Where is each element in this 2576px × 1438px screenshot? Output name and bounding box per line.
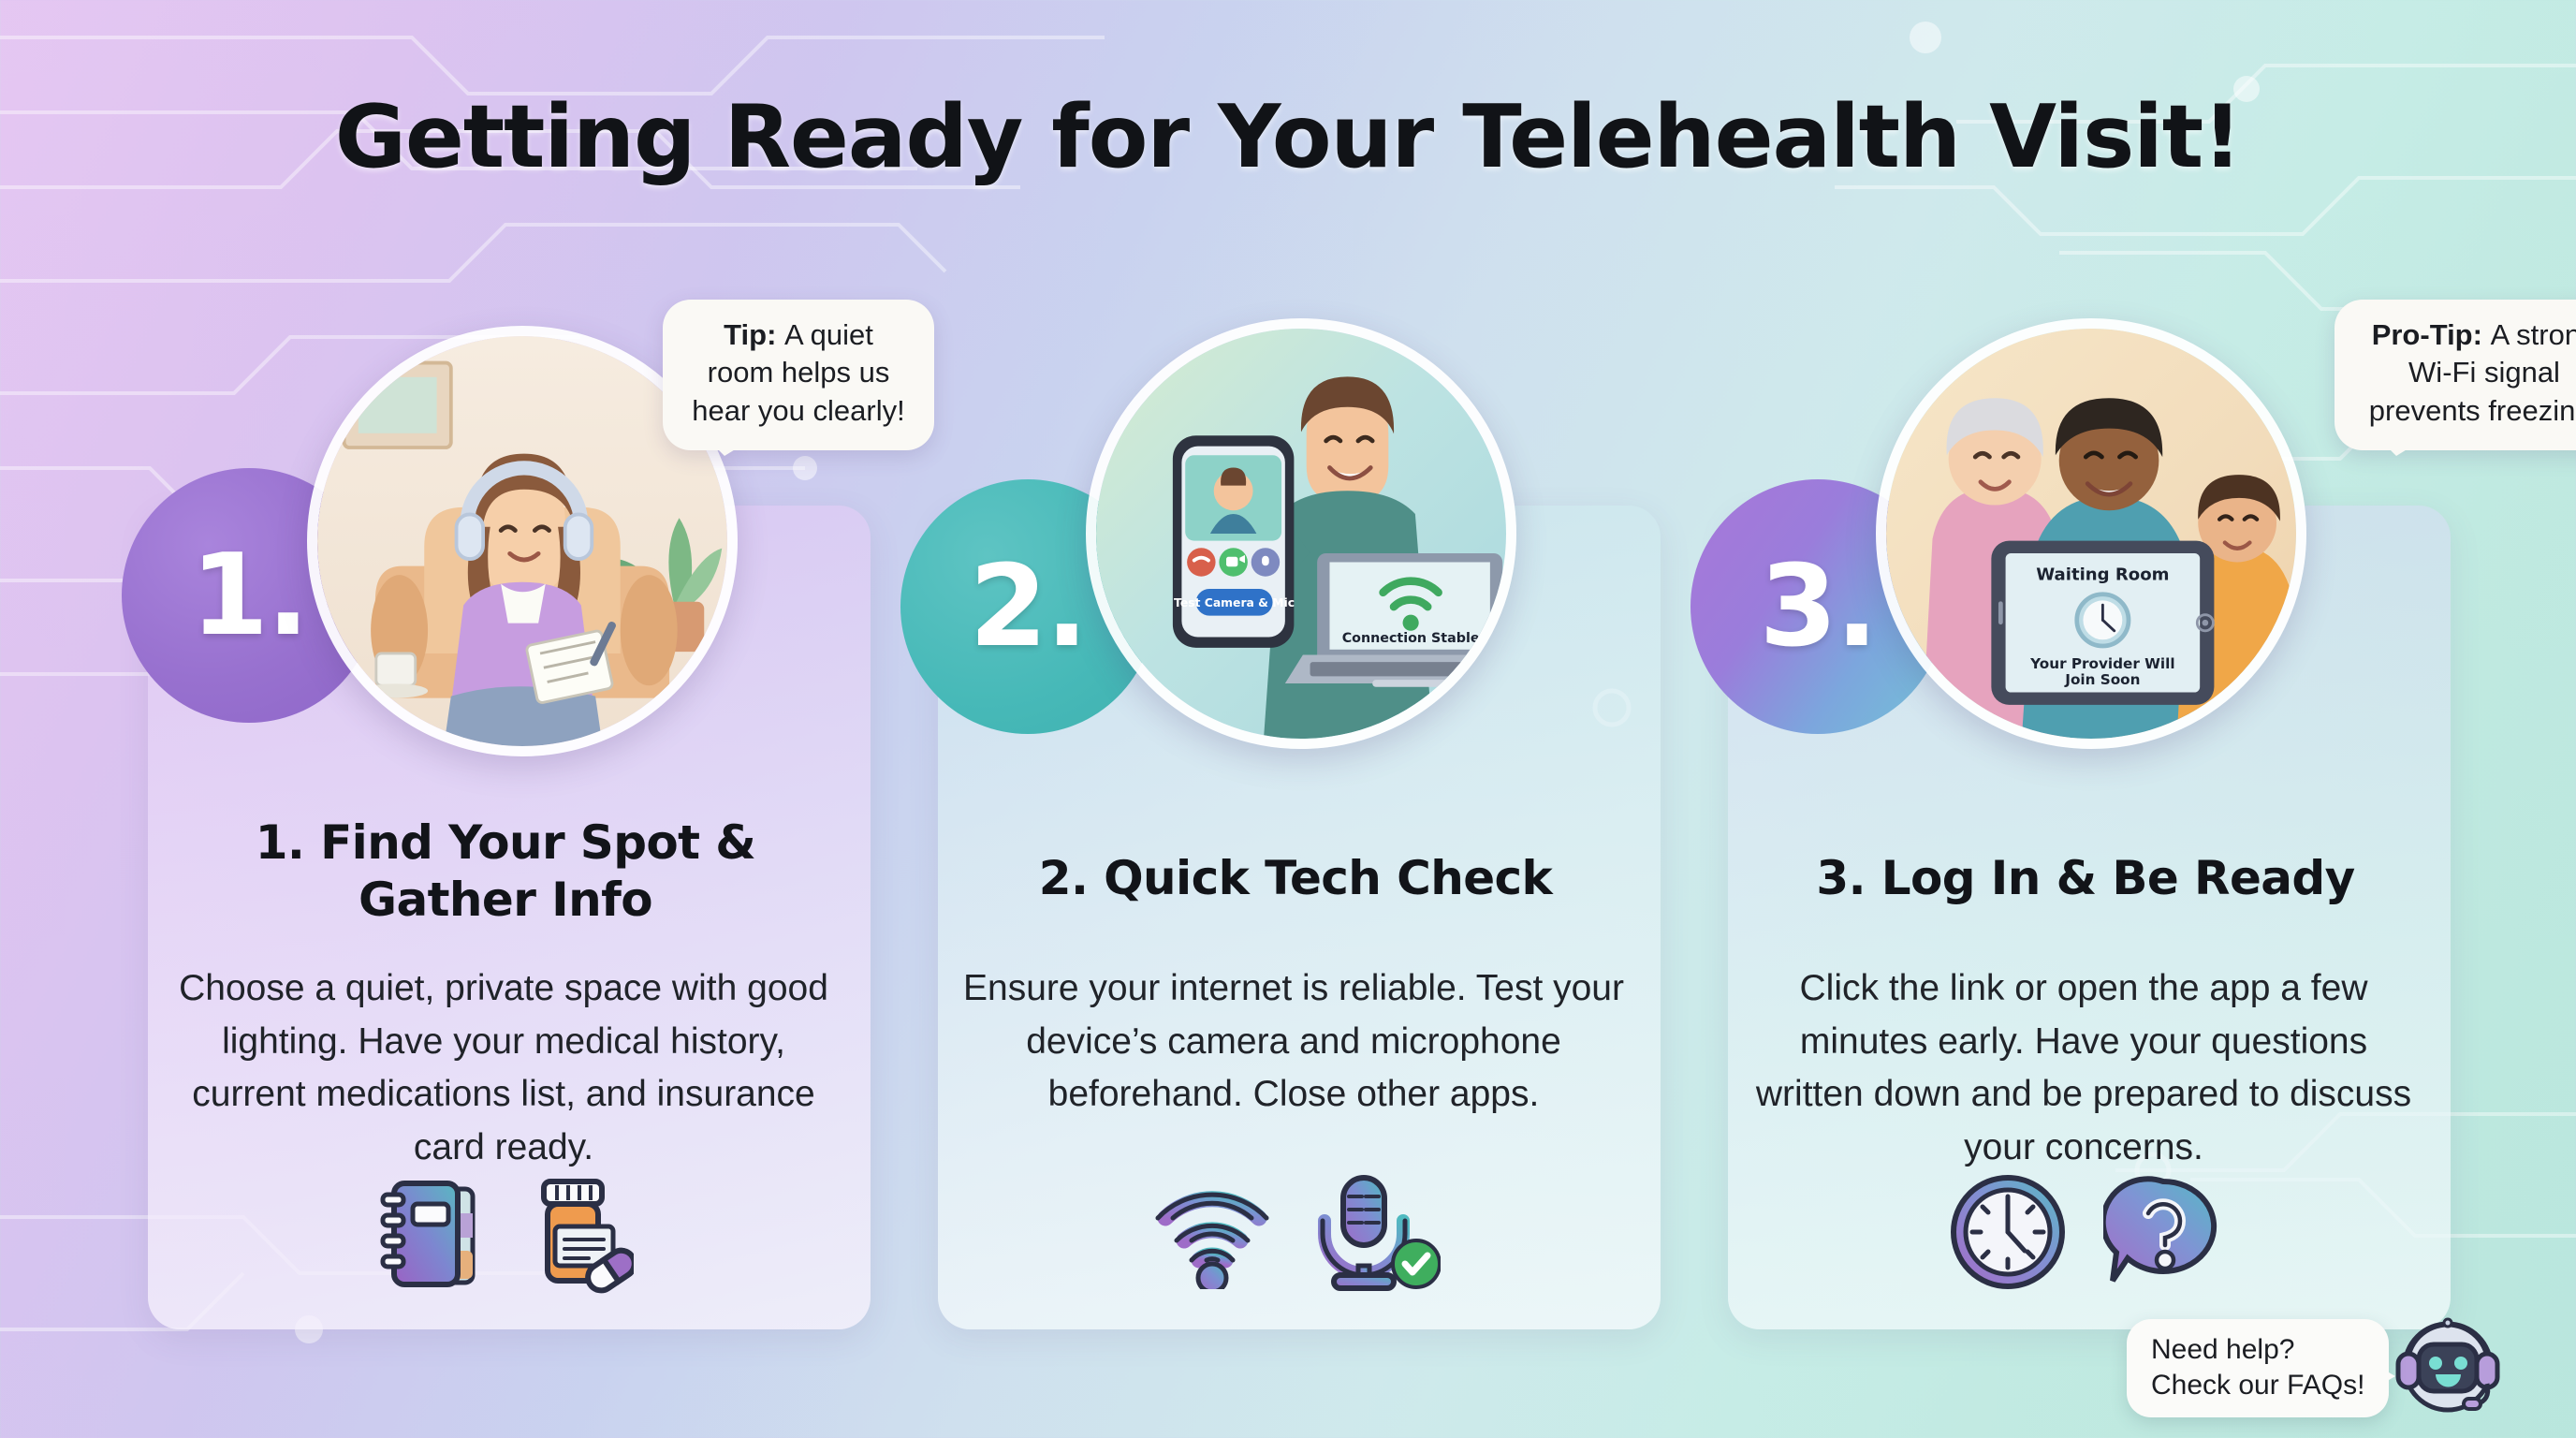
wifi-icon bbox=[1150, 1177, 1274, 1289]
pill-bottle-icon bbox=[523, 1172, 634, 1294]
step-column-3: 3. bbox=[1683, 0, 2488, 1438]
help-widget[interactable]: Need help? Check our FAQs! bbox=[2127, 1311, 2503, 1426]
help-bubble[interactable]: Need help? Check our FAQs! bbox=[2127, 1319, 2389, 1418]
step-column-2: 2. bbox=[893, 0, 1698, 1438]
step-column-1: 1. bbox=[103, 0, 908, 1438]
laptop-status-label: Connection Stable bbox=[1342, 631, 1480, 646]
tablet-title-label: Waiting Room bbox=[2036, 565, 2169, 585]
step-body-2: Ensure your internet is reliable. Test y… bbox=[952, 962, 1635, 1122]
tip-bubble-1: Tip: A quiet room helps us hear you clea… bbox=[663, 300, 934, 450]
step-heading-1-line2: Gather Info bbox=[359, 873, 652, 927]
tip-bubble-lead-1: Tip: bbox=[724, 318, 784, 351]
step-heading-2-line1: 2. Quick Tech Check bbox=[1039, 851, 1552, 905]
tip-bubble-lead-2: Pro-Tip: bbox=[2372, 318, 2491, 351]
notebook-icon bbox=[377, 1172, 488, 1294]
step-heading-1-line1: 1. Find Your Spot & bbox=[256, 815, 756, 870]
step-heading-1: 1. Find Your Spot & Gather Info bbox=[103, 814, 908, 929]
step-icons-2 bbox=[893, 1172, 1698, 1294]
step-heading-3-line1: 3. Log In & Be Ready bbox=[1816, 851, 2354, 905]
help-bubble-line2: Check our FAQs! bbox=[2151, 1368, 2364, 1403]
step-heading-3: 3. Log In & Be Ready bbox=[1683, 850, 2488, 907]
step-body-1: Choose a quiet, private space with good … bbox=[162, 962, 845, 1174]
step-illustration-2: Test Camera & Mic Connection Stable bbox=[1086, 318, 1516, 749]
phone-test-button-label: Test Camera & Mic bbox=[1174, 596, 1295, 609]
step-heading-2: 2. Quick Tech Check bbox=[893, 850, 1698, 907]
step-icons-3 bbox=[1683, 1172, 2488, 1292]
step-body-3: Click the link or open the app a few min… bbox=[1742, 962, 2425, 1174]
tablet-status-line2: Join Soon bbox=[2064, 671, 2140, 688]
help-bubble-line1: Need help? bbox=[2151, 1332, 2364, 1368]
clock-icon bbox=[1948, 1172, 2068, 1292]
tip-bubble-2: Pro-Tip: A strong Wi-Fi signal prevents … bbox=[2334, 300, 2576, 450]
step-icons-1 bbox=[103, 1172, 908, 1294]
step-illustration-3: Waiting Room Your Provider Will Join Soo… bbox=[1876, 318, 2306, 749]
tablet-status-line1: Your Provider Will bbox=[2029, 655, 2174, 672]
question-bubble-icon bbox=[2103, 1172, 2223, 1292]
microphone-check-icon bbox=[1310, 1172, 1441, 1294]
